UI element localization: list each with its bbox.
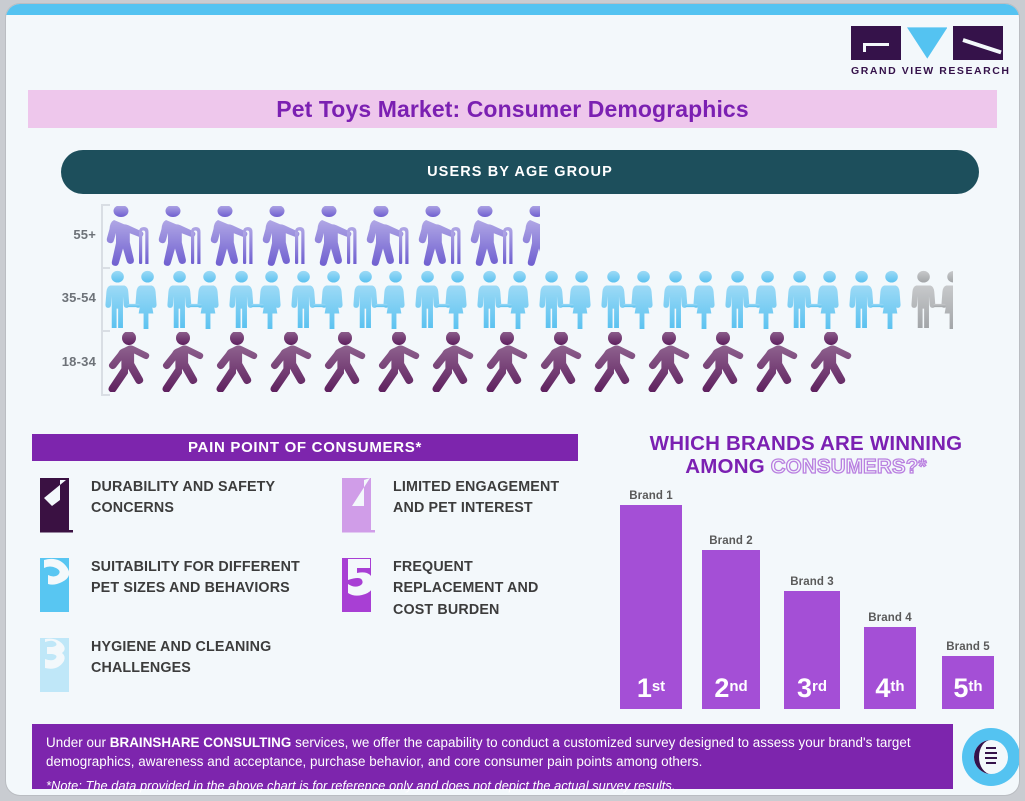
pictogram-row-label-35-54: 35-54 — [56, 290, 96, 305]
brand-bar-label: Brand 1 — [620, 490, 682, 502]
pain-point-label: HYGIENE AND CLEANING CHALLENGES — [91, 634, 312, 680]
brand-bar-label: Brand 5 — [942, 641, 994, 653]
top-accent-bar — [6, 4, 1019, 15]
pictogram-figure — [847, 269, 909, 329]
brand-rank-label: 5th — [953, 675, 982, 709]
pictogram-figure — [475, 269, 537, 329]
logo-g-icon — [851, 26, 901, 60]
brainshare-logo-icon — [961, 727, 1019, 787]
pain-point-number-5-icon — [334, 554, 379, 616]
pictogram-row-18-34 — [103, 332, 953, 392]
pain-points-section: PAIN POINT OF CONSUMERS* DURABILITY AND … — [32, 434, 578, 461]
logo-text: GRAND VIEW RESEARCH — [851, 65, 1003, 77]
pictogram-figure — [265, 332, 319, 392]
pain-point-number-icon — [32, 474, 77, 536]
infographic-page: GRAND VIEW RESEARCH Pet Toys Market: Con… — [0, 0, 1025, 801]
pictogram-row-35-54 — [103, 269, 953, 329]
pain-point-item: FREQUENT REPLACEMENT AND COST BURDEN — [334, 554, 578, 621]
pictogram-figure — [227, 269, 289, 329]
pictogram-figure — [643, 332, 697, 392]
brand-bar-group: Brand 22nd — [702, 530, 760, 709]
brand-rank-suffix: st — [652, 679, 665, 694]
footer-note: Under our BRAINSHARE CONSULTING services… — [32, 724, 953, 789]
logo-v-triangle-icon — [907, 26, 948, 60]
pictogram-figure — [363, 206, 415, 266]
pictogram-figure — [103, 269, 165, 329]
pictogram-figure — [481, 332, 535, 392]
brand-bar-label: Brand 2 — [702, 535, 760, 547]
pictogram-figure — [103, 332, 157, 392]
pictogram-figure — [599, 269, 661, 329]
pictogram-tick — [101, 394, 110, 396]
pictogram-figure — [155, 206, 207, 266]
pictogram-figure — [751, 332, 805, 392]
pain-point-number-icon — [32, 554, 77, 616]
pictogram-figure — [661, 269, 723, 329]
pictogram-figure — [785, 269, 847, 329]
pictogram-figure — [427, 332, 481, 392]
pictogram-figure — [259, 206, 311, 266]
brands-title-consumers: CONSUMERS?* — [771, 455, 927, 478]
pictogram-figure — [723, 269, 785, 329]
pain-point-item: LIMITED ENGAGEMENT AND PET INTEREST — [334, 474, 578, 536]
pictogram-figure-partial — [519, 206, 540, 266]
brand-rank-label: 1st — [637, 675, 665, 709]
brands-title-line2: AMONG CONSUMERS?* — [606, 455, 1006, 478]
pain-point-item: SUITABILITY FOR DIFFERENT PET SIZES AND … — [32, 554, 312, 616]
pictogram-figure — [537, 269, 599, 329]
pictogram-figure — [373, 332, 427, 392]
infographic-card: GRAND VIEW RESEARCH Pet Toys Market: Con… — [6, 4, 1019, 795]
brand-bar: 3rd — [784, 591, 840, 709]
pictogram-figure — [211, 332, 265, 392]
footer-main-text: Under our BRAINSHARE CONSULTING services… — [46, 733, 939, 771]
users-by-age-banner: USERS BY AGE GROUP — [61, 150, 979, 194]
page-title-band: Pet Toys Market: Consumer Demographics — [28, 90, 997, 128]
brand-bar: 1st — [620, 505, 682, 709]
pain-point-number-4-icon — [334, 474, 379, 536]
pain-point-number-3-icon — [32, 634, 77, 696]
pain-points-header: PAIN POINT OF CONSUMERS* — [32, 434, 578, 461]
pictogram-figure — [207, 206, 259, 266]
pictogram-row-label-18-34: 18-34 — [56, 354, 96, 369]
pain-point-item: DURABILITY AND SAFETY CONCERNS — [32, 474, 312, 536]
brand-rank-suffix: nd — [729, 679, 747, 694]
pain-points-header-label: PAIN POINT OF CONSUMERS* — [188, 439, 422, 456]
brand-rank-number: 1 — [637, 675, 652, 702]
brand-bar: 4th — [864, 627, 916, 709]
age-group-pictogram-chart: 55+ 35-54 18-34 — [56, 202, 956, 402]
pain-point-label: FREQUENT REPLACEMENT AND COST BURDEN — [393, 554, 578, 621]
brand-bar: 5th — [942, 656, 994, 709]
pictogram-figure — [103, 206, 155, 266]
pictogram-figure-muted — [909, 269, 953, 329]
footer-text-a: Under our — [46, 735, 110, 750]
brand-bar-group: Brand 55th — [942, 636, 994, 709]
logo-r-icon — [953, 26, 1003, 60]
pictogram-figure — [805, 332, 859, 392]
pictogram-figure — [165, 269, 227, 329]
brand-rank-number: 3 — [797, 675, 812, 702]
pictogram-figure — [589, 332, 643, 392]
pictogram-figure — [413, 269, 475, 329]
brand-bar-chart: Brand 11stBrand 22ndBrand 33rdBrand 44th… — [612, 494, 1006, 709]
pictogram-figure — [415, 206, 467, 266]
brands-title-line1: WHICH BRANDS ARE WINNING — [606, 432, 1006, 455]
brands-title-among: AMONG — [685, 455, 770, 478]
brand-rank-label: 3rd — [797, 675, 827, 709]
pictogram-figure — [697, 332, 751, 392]
pain-points-column-right: LIMITED ENGAGEMENT AND PET INTERESTFREQU… — [334, 474, 578, 621]
brand-bar-group: Brand 44th — [864, 607, 916, 709]
pain-point-label: DURABILITY AND SAFETY CONCERNS — [91, 474, 312, 520]
pictogram-figure — [467, 206, 519, 266]
pain-point-label: SUITABILITY FOR DIFFERENT PET SIZES AND … — [91, 554, 312, 600]
page-title: Pet Toys Market: Consumer Demographics — [276, 96, 748, 123]
pain-point-number-icon — [32, 634, 77, 696]
pictogram-figure — [351, 269, 413, 329]
grand-view-research-logo: GRAND VIEW RESEARCH — [851, 26, 1003, 82]
brand-rank-number: 2 — [714, 675, 729, 702]
brand-rank-label: 4th — [875, 675, 904, 709]
brands-section: WHICH BRANDS ARE WINNING AMONG CONSUMERS… — [606, 432, 1006, 717]
brand-bar-label: Brand 4 — [864, 612, 916, 624]
brands-title: WHICH BRANDS ARE WINNING AMONG CONSUMERS… — [606, 432, 1006, 479]
pain-point-number-icon — [334, 554, 379, 616]
brand-bar-group: Brand 11st — [620, 485, 682, 709]
brand-rank-label: 2nd — [714, 675, 747, 709]
pain-point-number-1-icon — [32, 474, 77, 536]
brand-rank-number: 4 — [875, 675, 890, 702]
pictogram-figure — [289, 269, 351, 329]
brand-rank-number: 5 — [953, 675, 968, 702]
footer-disclaimer: *Note: The data provided in the above ch… — [46, 777, 939, 795]
pictogram-figure — [311, 206, 363, 266]
brand-bar: 2nd — [702, 550, 760, 709]
brand-rank-suffix: rd — [812, 679, 827, 694]
brand-bar-label: Brand 3 — [784, 576, 840, 588]
pictogram-row-55plus — [103, 206, 953, 266]
pictogram-row-label-55plus: 55+ — [56, 227, 96, 242]
pictogram-figure — [157, 332, 211, 392]
footer-brand-name: BRAINSHARE CONSULTING — [110, 735, 292, 750]
brand-rank-suffix: th — [968, 679, 982, 694]
brand-bar-group: Brand 33rd — [784, 571, 840, 709]
pain-point-number-2-icon — [32, 554, 77, 616]
logo-marks — [851, 26, 1003, 60]
pain-point-label: LIMITED ENGAGEMENT AND PET INTEREST — [393, 474, 578, 520]
pictogram-figure — [319, 332, 373, 392]
pain-point-item: HYGIENE AND CLEANING CHALLENGES — [32, 634, 312, 696]
pain-points-column-left: DURABILITY AND SAFETY CONCERNSSUITABILIT… — [32, 474, 312, 696]
brand-rank-suffix: th — [890, 679, 904, 694]
users-by-age-banner-label: USERS BY AGE GROUP — [427, 164, 613, 180]
pain-point-number-icon — [334, 474, 379, 536]
pictogram-figure — [535, 332, 589, 392]
